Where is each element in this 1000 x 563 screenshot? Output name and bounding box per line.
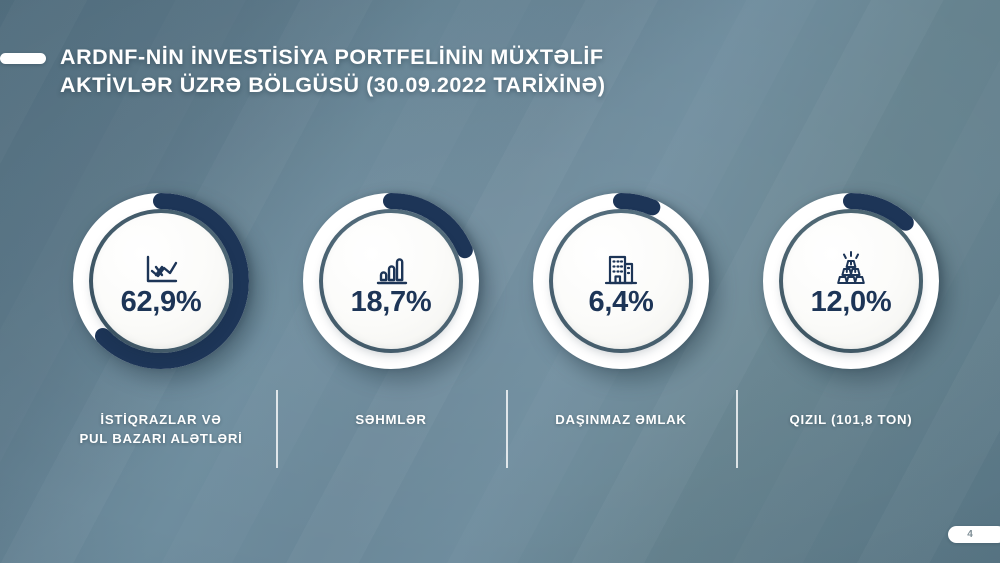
page-title: ARDNF-NİN İNVESTİSİYA PORTFELİNİN MÜXTƏL… <box>60 44 606 100</box>
label-line-1: DAŞINMAZ ƏMLAK <box>555 412 686 427</box>
slide: ARDNF-NİN İNVESTİSİYA PORTFELİNİN MÜXTƏL… <box>0 0 1000 563</box>
donut-card-group: 62,9% İSTİQRAZLAR VƏ PUL BAZARI ALƏTLƏRİ <box>46 190 966 448</box>
label-line-1: SƏHMLƏR <box>355 412 426 427</box>
donut-inner-disc: 12,0% <box>783 213 919 349</box>
building-icon <box>603 246 639 286</box>
donut-card-label-realestate: DAŞINMAZ ƏMLAK <box>521 410 721 429</box>
donut-percent-value: 6,4% <box>589 288 654 317</box>
line-chart-icon <box>143 246 179 286</box>
donut-card-label-shares: SƏHMLƏR <box>291 410 491 429</box>
donut-card-realestate: 6,4% DAŞINMAZ ƏMLAK <box>506 190 736 448</box>
donut-chart-bonds: 62,9% <box>70 190 252 372</box>
bar-chart-icon <box>374 246 408 286</box>
donut-percent-value: 18,7% <box>351 288 432 317</box>
title-line-1: ARDNF-NİN İNVESTİSİYA PORTFELİNİN MÜXTƏL… <box>60 45 604 69</box>
title-line-2: AKTİVLƏR ÜZRƏ BÖLGÜSÜ (30.09.2022 TARİXİ… <box>60 72 606 100</box>
label-line-2: PUL BAZARI ALƏTLƏRİ <box>79 431 242 446</box>
donut-card-bonds: 62,9% İSTİQRAZLAR VƏ PUL BAZARI ALƏTLƏRİ <box>46 190 276 448</box>
donut-chart-shares: 18,7% <box>300 190 482 372</box>
donut-inner-disc: 18,7% <box>323 213 459 349</box>
donut-card-gold: 12,0% QIZIL (101,8 TON) <box>736 190 966 448</box>
title-accent-dash <box>0 53 46 64</box>
label-line-1: QIZIL (101,8 TON) <box>790 412 913 427</box>
donut-percent-value: 12,0% <box>811 288 892 317</box>
page-number-badge: 4 <box>948 526 1000 543</box>
donut-card-label-gold: QIZIL (101,8 TON) <box>751 410 951 429</box>
donut-card-label-bonds: İSTİQRAZLAR VƏ PUL BAZARI ALƏTLƏRİ <box>61 410 261 448</box>
slide-title-row: ARDNF-NİN İNVESTİSİYA PORTFELİNİN MÜXTƏL… <box>0 44 606 100</box>
donut-chart-realestate: 6,4% <box>530 190 712 372</box>
page-number-text: 4 <box>967 529 973 540</box>
donut-inner-disc: 62,9% <box>93 213 229 349</box>
donut-chart-gold: 12,0% <box>760 190 942 372</box>
donut-inner-disc: 6,4% <box>553 213 689 349</box>
donut-card-shares: 18,7% SƏHMLƏR <box>276 190 506 448</box>
donut-percent-value: 62,9% <box>121 288 202 317</box>
label-line-1: İSTİQRAZLAR VƏ <box>100 412 221 427</box>
gold-bars-icon <box>833 246 869 286</box>
